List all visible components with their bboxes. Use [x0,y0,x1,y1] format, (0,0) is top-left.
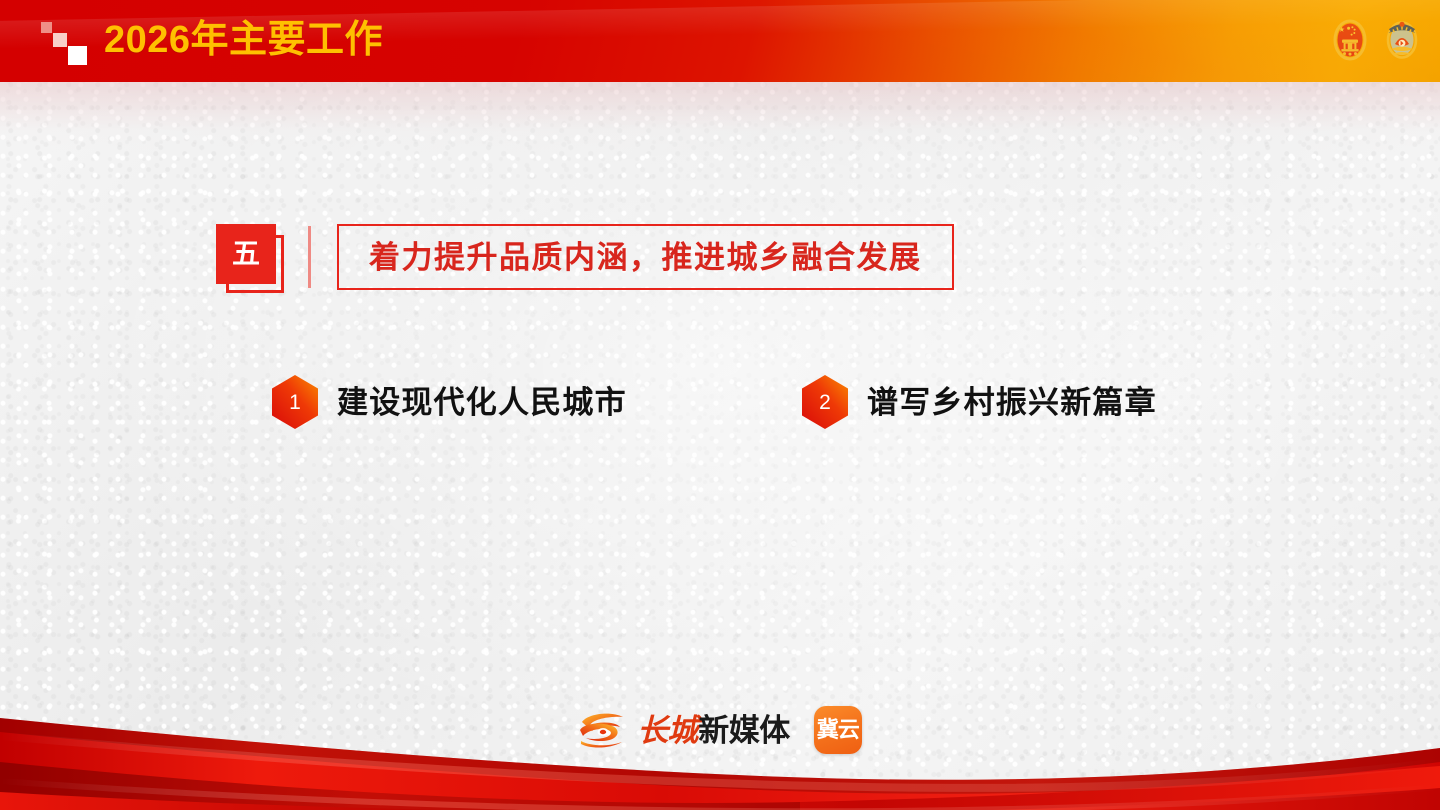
item-label: 建设现代化人民城市 [337,387,627,418]
section-heading: 五 着力提升品质内涵，推进城乡融合发展 [216,224,954,296]
badge-number-label: 五 [232,240,260,268]
hexagon-badge-icon: 1 [270,374,320,430]
list-item[interactable]: 1 建设现代化人民城市 [270,374,800,430]
section-number-badge: 五 [216,224,288,296]
badge-solid-square: 五 [216,224,276,284]
item-number-label: 1 [270,374,320,430]
section-title-text: 着力提升品质内涵，推进城乡融合发展 [369,242,922,273]
slide-root: 2026年主要工作 [0,0,1440,810]
jiyun-app-icon[interactable]: 冀云 [814,706,862,754]
changcheng-xinmeiti-logo: 长城 新媒体 [578,710,790,750]
heading-divider [308,226,311,288]
emblem-group [1330,18,1422,64]
diagonal-squares-icon [41,22,103,70]
list-item[interactable]: 2 谱写乡村振兴新篇章 [800,374,1157,430]
national-emblem-china-icon [1330,18,1370,64]
section-title-box: 着力提升品质内涵，推进城乡融合发展 [337,224,954,290]
hexagon-badge-icon: 2 [800,374,850,430]
changcheng-logo-text: 长城 新媒体 [637,715,790,746]
app-icon-label: 冀云 [817,719,859,741]
item-list: 1 建设现代化人民城市 2 谱写乡村振兴新篇章 [270,374,1290,430]
item-number-label: 2 [800,374,850,430]
item-label: 谱写乡村振兴新篇章 [867,387,1157,418]
logo-text-main: 新媒体 [698,715,790,746]
logo-text-accent: 长城 [637,715,697,746]
footer-logo-group: 长城 新媒体 冀云 [0,706,1440,754]
cppcc-emblem-icon [1382,18,1422,64]
page-title: 2026年主要工作 [104,21,383,59]
header-bar: 2026年主要工作 [0,0,1440,82]
changcheng-swirl-icon [578,710,630,750]
